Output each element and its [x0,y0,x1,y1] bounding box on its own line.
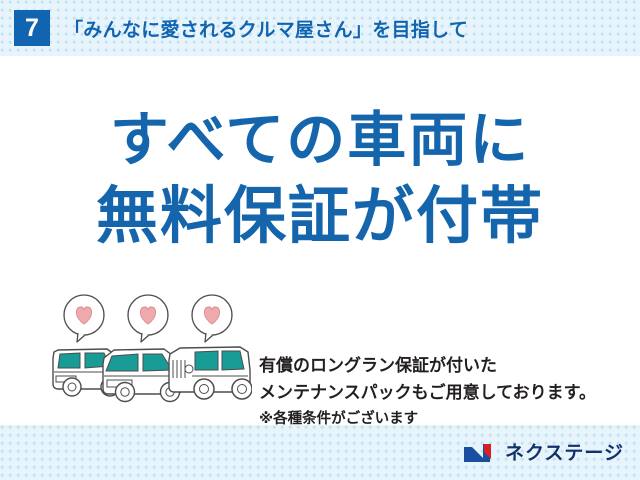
nexstage-n-logo-icon [463,441,497,465]
header-title: 「みんなに愛されるクルマ屋さん」を目指して [64,15,468,42]
body-copy-line-2: メンテナンスパックもご用意しております。 [259,379,596,406]
brand-logo: ネクステージ [463,439,624,467]
section-number-badge: 7 [14,10,50,46]
main-stage: すべての車両に 無料保証が付帯 [0,56,640,425]
body-copy-line-1: 有償のロングラン保証が付いた [259,352,596,379]
header: 7 「みんなに愛されるクルマ屋さん」を目指して [0,0,640,56]
heart-bubble-3 [192,295,232,342]
heart-bubble-1 [64,295,104,342]
headline-line-1: すべての車両に [0,111,640,170]
lower-panel: 有償のロングラン保証が付いた メンテナンスパックもご用意しております。 ※各種条… [0,290,640,425]
body-copy: 有償のロングラン保証が付いた メンテナンスパックもご用意しております。 ※各種条… [259,352,596,433]
promo-banner: 7 「みんなに愛されるクルマ屋さん」を目指して すべての車両に 無料保証が付帯 [0,0,640,480]
headline-line-2: 無料保証が付帯 [0,186,640,248]
car-suv-jeep [169,347,252,399]
cars-illustration [52,292,252,410]
brand-logo-text: ネクステージ [505,444,624,463]
heart-bubble-2 [128,295,168,342]
